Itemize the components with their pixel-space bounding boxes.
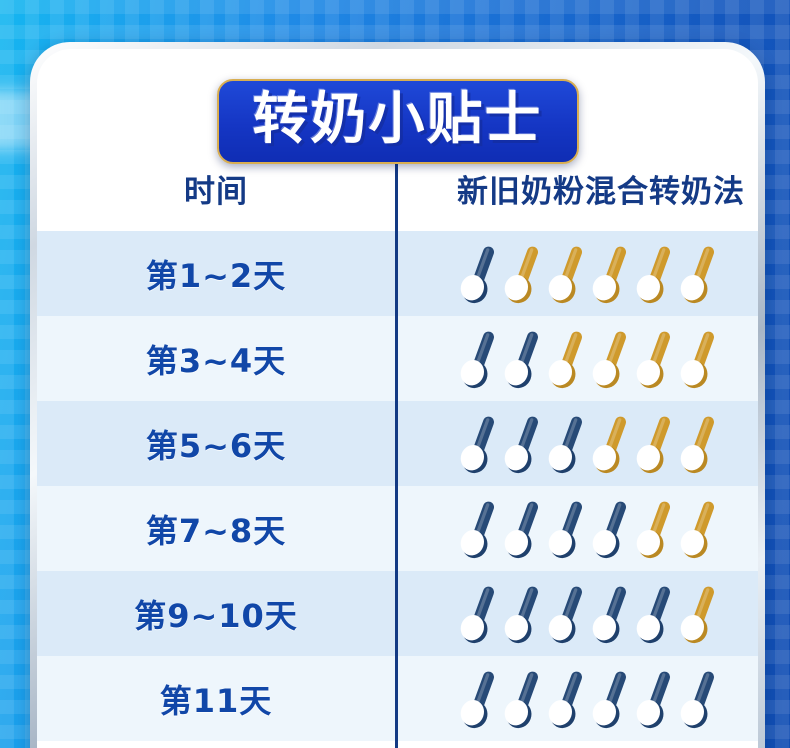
time-label: 第7~8天 [146, 506, 286, 552]
scoop-set [457, 498, 721, 560]
scoop-icon-blue [457, 413, 503, 475]
scoop-icon-gold [677, 413, 723, 475]
cell-time: 第5~6天 [37, 421, 395, 467]
time-label: 第5~6天 [146, 421, 286, 467]
scoop-icon-blue [633, 668, 679, 730]
scoop-icon-blue [457, 498, 503, 560]
title-container: 转奶小贴士 [37, 79, 758, 164]
cell-scoops [395, 668, 758, 730]
scoop-icon-blue [457, 243, 503, 305]
transition-schedule-table: 时间 新旧奶粉混合转奶法 第1~2天 [37, 145, 758, 748]
time-label: 第3~4天 [146, 336, 286, 382]
scoop-icon-blue [545, 413, 591, 475]
cell-time: 第3~4天 [37, 336, 395, 382]
scoop-icon-gold [633, 498, 679, 560]
cell-scoops [395, 413, 758, 475]
time-label: 第11天 [160, 676, 273, 722]
scoop-icon-gold [545, 328, 591, 390]
page-title: 转奶小贴士 [253, 90, 543, 149]
time-label: 第1~2天 [146, 251, 286, 297]
scoop-icon-blue [501, 413, 547, 475]
scoop-icon-blue [589, 498, 635, 560]
scoop-icon-gold [589, 413, 635, 475]
scoop-icon-gold [677, 583, 723, 645]
scoop-icon-gold [501, 243, 547, 305]
cell-scoops [395, 498, 758, 560]
content-card: 转奶小贴士 时间 新旧奶粉混合转奶法 第1~2天 [37, 49, 758, 748]
scoop-icon-blue [501, 583, 547, 645]
cell-scoops [395, 583, 758, 645]
scoop-icon-blue [589, 668, 635, 730]
scoop-icon-blue [633, 583, 679, 645]
cell-time: 第7~8天 [37, 506, 395, 552]
scoop-icon-blue [677, 668, 723, 730]
scoop-icon-gold [677, 243, 723, 305]
scoop-set [457, 668, 721, 730]
scoop-icon-gold [589, 328, 635, 390]
scoop-icon-blue [545, 498, 591, 560]
scoop-set [457, 583, 721, 645]
header-label-time: 时间 [184, 166, 248, 211]
cell-time: 第1~2天 [37, 251, 395, 297]
card-metallic-rim: 转奶小贴士 时间 新旧奶粉混合转奶法 第1~2天 [30, 42, 765, 748]
scoop-icon-blue [501, 328, 547, 390]
cell-time: 第11天 [37, 676, 395, 722]
scoop-set [457, 243, 721, 305]
scoop-icon-blue [589, 583, 635, 645]
time-label: 第9~10天 [134, 591, 298, 637]
scoop-icon-blue [501, 498, 547, 560]
header-cell-time: 时间 [37, 166, 395, 211]
scoop-icon-blue [457, 328, 503, 390]
scoop-icon-blue [501, 668, 547, 730]
scoop-icon-gold [633, 328, 679, 390]
header-label-method: 新旧奶粉混合转奶法 [457, 166, 745, 211]
scoop-set [457, 413, 721, 475]
scoop-icon-blue [457, 583, 503, 645]
cell-scoops [395, 243, 758, 305]
scoop-icon-blue [457, 668, 503, 730]
scoop-icon-gold [633, 243, 679, 305]
scoop-icon-blue [545, 583, 591, 645]
infographic-poster: 转奶小贴士 时间 新旧奶粉混合转奶法 第1~2天 [0, 0, 790, 748]
column-divider [395, 159, 398, 748]
cell-scoops [395, 328, 758, 390]
scoop-icon-blue [545, 668, 591, 730]
scoop-icon-gold [589, 243, 635, 305]
header-cell-method: 新旧奶粉混合转奶法 [395, 166, 758, 211]
cell-time: 第9~10天 [37, 591, 395, 637]
title-badge: 转奶小贴士 [217, 79, 579, 164]
scoop-set [457, 328, 721, 390]
scoop-icon-gold [633, 413, 679, 475]
scoop-icon-gold [545, 243, 591, 305]
scoop-icon-gold [677, 328, 723, 390]
scoop-icon-gold [677, 498, 723, 560]
